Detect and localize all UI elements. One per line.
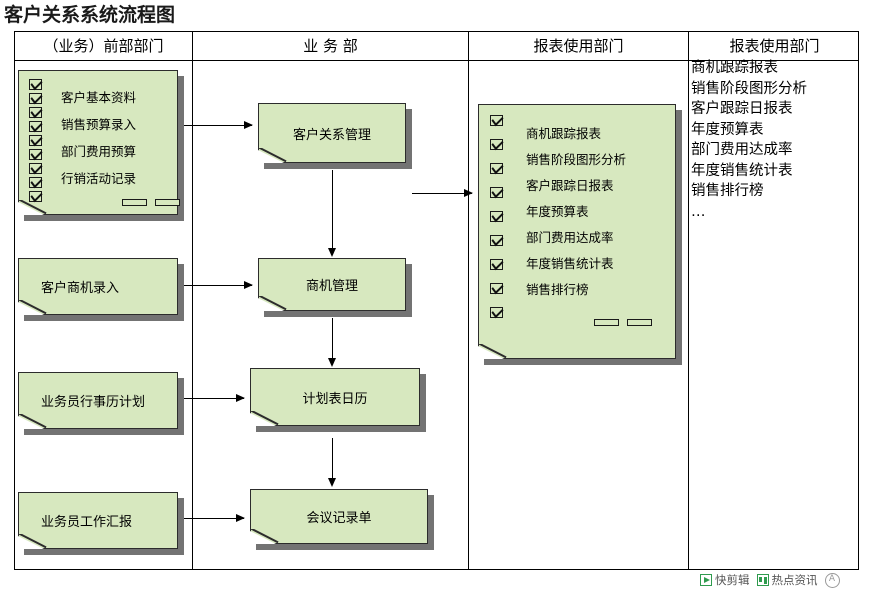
arrow-opportunity-input-to-mgmt — [184, 285, 252, 286]
fold-corner-line — [478, 344, 508, 359]
list-item: 销售排行榜 — [526, 283, 626, 296]
stub-icon — [627, 319, 652, 326]
col1-stub-row — [122, 199, 180, 206]
column-header-1: （业务）前部部门 — [15, 32, 192, 60]
column-header-2: 业 务 部 — [193, 32, 468, 60]
col1-box-sales-work-report[interactable]: 业务员工作汇报 — [18, 492, 178, 549]
check-icon — [29, 163, 42, 174]
col1-box-customer-opportunity[interactable]: 客户商机录入 — [18, 258, 178, 315]
col2-box-opportunity-mgmt[interactable]: 商机管理 — [258, 258, 406, 311]
fold-corner-line — [250, 411, 280, 426]
fold-corner-line — [258, 296, 288, 311]
list-item: 行销活动记录 — [61, 172, 136, 185]
col1-box-sales-calendar-plan[interactable]: 业务员行事历计划 — [18, 372, 178, 429]
toolbar-label: 热点资讯 — [772, 572, 818, 588]
column-header-4: 报表使用部门 — [689, 32, 860, 60]
fold-corner-line — [18, 534, 48, 549]
fold-corner-line — [18, 414, 48, 429]
circle-a-icon: A — [825, 573, 840, 588]
check-icon — [490, 139, 503, 150]
list-item: 销售预算录入 — [61, 118, 136, 131]
col2-box-schedule-calendar[interactable]: 计划表日历 — [250, 368, 420, 426]
check-icon — [490, 283, 503, 294]
list-item: 销售阶段图形分析 — [691, 79, 807, 100]
play-clip-icon — [700, 574, 712, 586]
fold-corner-line — [258, 148, 288, 163]
col3-checkbox-column — [490, 115, 503, 321]
list-item: 客户跟踪日报表 — [691, 99, 807, 120]
list-item: 部门费用达成率 — [526, 231, 626, 244]
check-icon — [29, 149, 42, 160]
list-item: 客户基本资料 — [61, 91, 136, 104]
list-item: 销售排行榜 — [691, 181, 807, 202]
col3-report-labels: 商机跟踪报表 销售阶段图形分析 客户跟踪日报表 年度预算表 部门费用达成率 年度… — [526, 127, 626, 296]
col4-report-list: 商机跟踪报表 销售阶段图形分析 客户跟踪日报表 年度预算表 部门费用达成率 年度… — [691, 58, 807, 222]
arrow-crm-to-opportunity-mgmt — [332, 170, 333, 248]
col2-box-meeting-record[interactable]: 会议记录单 — [250, 489, 428, 544]
col1-checklist-labels: 客户基本资料 销售预算录入 部门费用预算 行销活动记录 — [61, 91, 136, 185]
toolbar-item-quick-edit[interactable]: 快剪辑 — [700, 572, 750, 588]
check-icon — [490, 307, 503, 318]
bottom-toolbar: 快剪辑 热点资讯 A — [700, 572, 840, 588]
column-divider-3 — [688, 32, 689, 569]
arrow-crm-to-reports — [412, 193, 472, 194]
toolbar-item-hot-news[interactable]: 热点资讯 — [757, 572, 818, 588]
col1-checklist-document[interactable]: 客户基本资料 销售预算录入 部门费用预算 行销活动记录 — [18, 70, 178, 215]
arrow-col1-doc-to-crm — [184, 125, 252, 126]
check-icon — [29, 135, 42, 146]
fold-corner-line — [18, 300, 48, 315]
check-icon — [490, 163, 503, 174]
check-icon — [490, 259, 503, 270]
list-item: 商机跟踪报表 — [691, 58, 807, 79]
col1-checkbox-column — [29, 79, 42, 205]
arrow-calendar-to-meeting — [332, 438, 333, 478]
arrow-calendar-plan-to-schedule — [184, 398, 244, 399]
check-icon — [29, 177, 42, 188]
list-item: 销售阶段图形分析 — [526, 153, 626, 166]
check-icon — [29, 93, 42, 104]
column-header-3: 报表使用部门 — [469, 32, 688, 60]
check-icon — [29, 121, 42, 132]
toolbar-item-circle[interactable]: A — [825, 573, 840, 588]
list-item: 部门费用预算 — [61, 145, 136, 158]
toolbar-label: 快剪辑 — [715, 572, 750, 588]
list-item: 年度销售统计表 — [691, 161, 807, 182]
stub-icon — [594, 319, 619, 326]
list-item: 年度销售统计表 — [526, 257, 626, 270]
column-divider-2 — [468, 32, 469, 569]
fold-corner-line — [18, 200, 48, 215]
check-icon — [29, 107, 42, 118]
fold-corner-line — [250, 529, 280, 544]
arrow-work-report-to-meeting — [184, 518, 244, 519]
list-item: 年度预算表 — [691, 120, 807, 141]
news-icon — [757, 574, 769, 586]
column-divider-1 — [192, 32, 193, 569]
col3-reports-document[interactable]: 商机跟踪报表 销售阶段图形分析 客户跟踪日报表 年度预算表 部门费用达成率 年度… — [478, 104, 676, 359]
arrow-opportunity-to-calendar — [332, 318, 333, 358]
list-item: 年度预算表 — [526, 205, 626, 218]
col3-stub-row — [594, 319, 652, 326]
stub-icon — [122, 199, 147, 206]
check-icon — [29, 79, 42, 90]
list-item-ellipsis: … — [691, 202, 807, 223]
page-title: 客户关系系统流程图 — [4, 0, 175, 27]
list-item: 客户跟踪日报表 — [526, 179, 626, 192]
check-icon — [490, 211, 503, 222]
check-icon — [490, 235, 503, 246]
list-item: 部门费用达成率 — [691, 140, 807, 161]
check-icon — [490, 187, 503, 198]
list-item: 商机跟踪报表 — [526, 127, 626, 140]
check-icon — [490, 115, 503, 126]
stub-icon — [155, 199, 180, 206]
col2-box-crm[interactable]: 客户关系管理 — [258, 103, 406, 163]
